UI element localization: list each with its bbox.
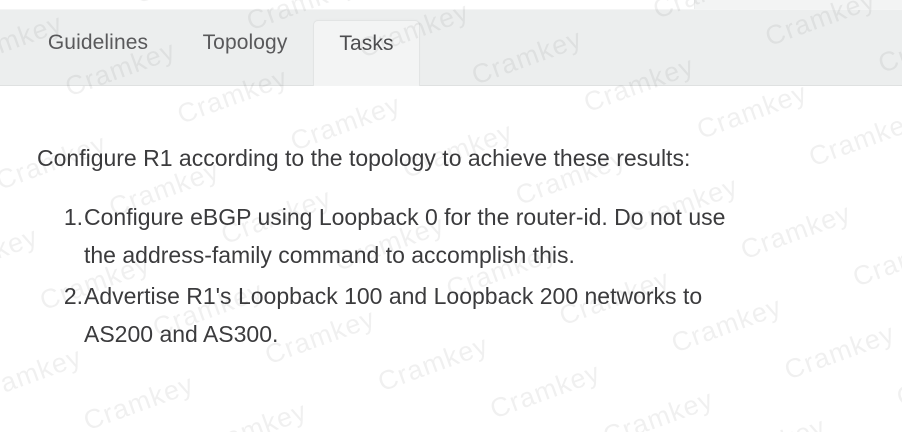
tab-bar: Guidelines Topology Tasks xyxy=(0,9,902,86)
task-list-item: 1. Configure eBGP using Loopback 0 for t… xyxy=(37,198,877,274)
tab-tasks[interactable]: Tasks xyxy=(313,20,420,86)
task-item-number: 2. xyxy=(55,277,83,315)
task-intro-text: Configure R1 according to the topology t… xyxy=(37,144,690,172)
task-content: Configure R1 according to the topology t… xyxy=(0,86,902,432)
task-item-number: 1. xyxy=(55,198,83,236)
task-item-line: Configure eBGP using Loopback 0 for the … xyxy=(84,198,877,236)
task-list-item: 2. Advertise R1's Loopback 100 and Loopb… xyxy=(37,277,877,353)
tab-topology[interactable]: Topology xyxy=(180,20,310,86)
tab-guidelines[interactable]: Guidelines xyxy=(22,20,174,86)
task-list: 1. Configure eBGP using Loopback 0 for t… xyxy=(37,198,877,356)
tab-topology-label: Topology xyxy=(203,31,288,55)
task-item-line: AS200 and AS300. xyxy=(84,315,877,353)
exam-task-panel: Guidelines Topology Tasks Configure R1 a… xyxy=(0,0,902,432)
tab-guidelines-label: Guidelines xyxy=(48,31,148,55)
task-item-line: Advertise R1's Loopback 100 and Loopback… xyxy=(84,277,877,315)
task-item-line: the address-family command to accomplish… xyxy=(84,236,877,274)
tab-tasks-label: Tasks xyxy=(339,32,393,56)
